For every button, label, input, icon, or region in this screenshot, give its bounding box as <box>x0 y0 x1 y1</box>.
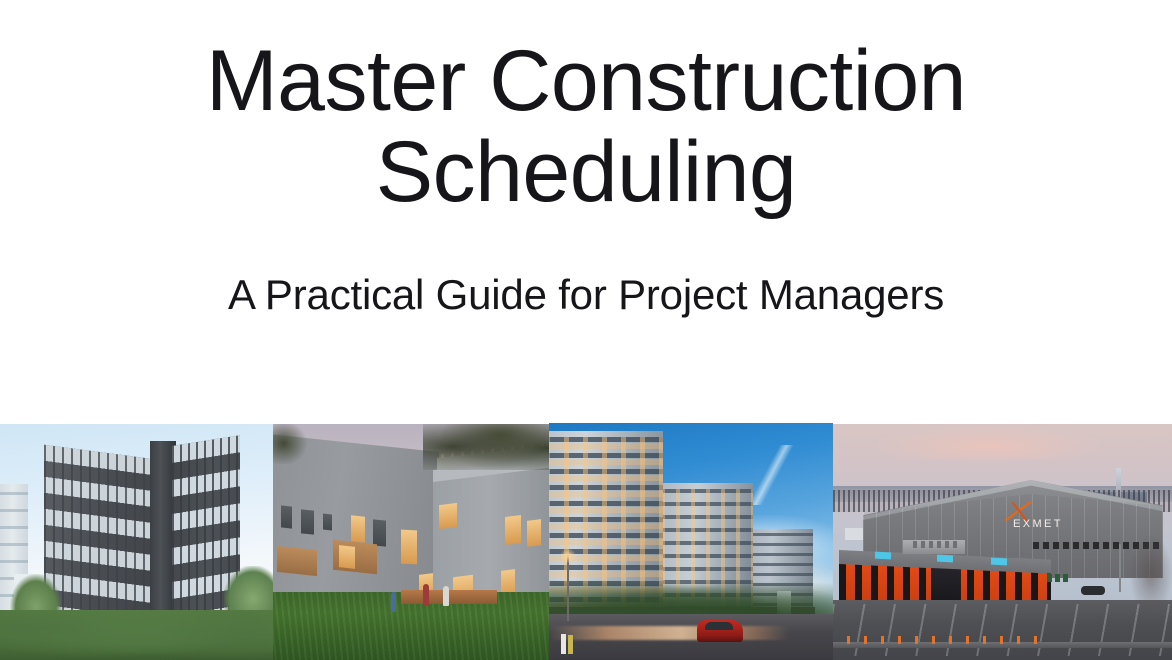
pedestrian <box>561 634 566 654</box>
cover-image-exmet-industrial-hall: EXMET <box>833 424 1172 660</box>
pedestrian <box>568 635 573 654</box>
window <box>281 505 292 528</box>
traffic-cones <box>847 636 1037 644</box>
tree-left <box>273 424 311 464</box>
tree-canopy <box>423 424 549 470</box>
street-lamp-glow <box>559 549 577 563</box>
skylight <box>937 555 953 563</box>
window <box>323 514 332 531</box>
page-subtitle: A Practical Guide for Project Managers <box>0 270 1172 320</box>
light-trail <box>549 626 789 640</box>
exmet-logo-text: EXMET <box>1013 518 1063 530</box>
waste-bins <box>1047 574 1071 582</box>
lit-window <box>439 503 457 529</box>
light-pole <box>1119 544 1121 592</box>
window <box>373 519 386 546</box>
cover-image-modern-office-building <box>0 424 273 660</box>
wooden-terrace <box>401 590 497 604</box>
person <box>423 584 429 606</box>
foreground-hedge <box>0 610 273 660</box>
cover-image-strip: EXMET <box>0 423 1172 660</box>
bare-tree <box>1129 534 1172 614</box>
cover-image-residential-townhouses <box>273 424 549 660</box>
lit-window <box>339 545 355 569</box>
skylight <box>875 552 891 560</box>
page-title: Master Construction Scheduling <box>0 36 1172 218</box>
person <box>391 592 396 612</box>
horizon-glow <box>873 426 1103 460</box>
title-block: Master Construction Scheduling A Practic… <box>0 36 1172 321</box>
lit-window <box>505 515 521 545</box>
window <box>301 509 314 534</box>
car-window <box>705 622 733 630</box>
parked-truck <box>845 528 863 540</box>
lit-window <box>351 515 365 542</box>
cover-image-apartment-high-rise <box>549 423 833 660</box>
street-lamp <box>567 555 569 621</box>
lit-window <box>401 530 417 565</box>
lit-window <box>527 519 541 547</box>
rooftop-vent-grille <box>913 541 959 548</box>
parking-bay-markings <box>833 604 1172 656</box>
cover-page: Master Construction Scheduling A Practic… <box>0 0 1172 660</box>
parked-car <box>1081 586 1105 595</box>
skylight <box>991 558 1007 566</box>
balcony-recess <box>277 546 317 576</box>
person <box>443 586 449 606</box>
